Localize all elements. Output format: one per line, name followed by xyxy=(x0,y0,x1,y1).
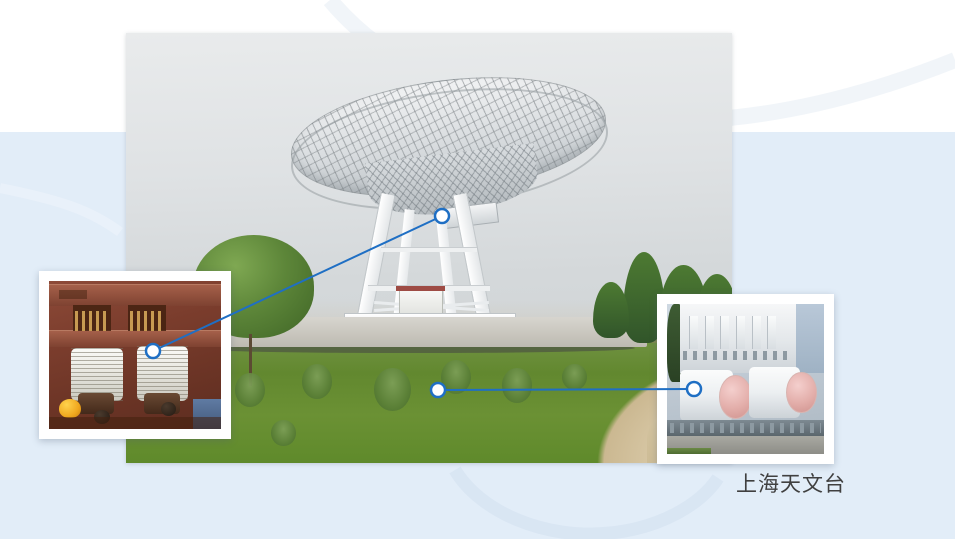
pink-end-cap-right xyxy=(786,372,816,413)
gear-pin-row-right xyxy=(130,311,164,332)
base-bolt-row xyxy=(670,423,821,434)
housing-bolt-row xyxy=(683,351,793,360)
rusty-slot-upper xyxy=(59,290,87,299)
housing-fin-3 xyxy=(720,316,729,349)
rusty-foreground-shadow xyxy=(49,417,221,429)
housing-fin-5 xyxy=(752,316,761,349)
grass-strip xyxy=(667,448,711,454)
housing-fin-1 xyxy=(689,316,698,349)
shrub-7 xyxy=(562,364,586,390)
shrub-6 xyxy=(502,368,532,402)
housing-fin-4 xyxy=(736,316,745,349)
shrub-9 xyxy=(271,420,295,446)
housing-fin-6 xyxy=(767,316,776,349)
housing-fin-2 xyxy=(705,316,714,349)
drive-motor-closeup-rusty[interactable] xyxy=(39,271,231,439)
pink-end-cap-left xyxy=(719,375,752,419)
photo-caption: 上海天文台 xyxy=(736,468,846,498)
gear-pin-row-left xyxy=(75,311,109,332)
drive-motor-closeup-white[interactable] xyxy=(657,294,834,464)
inset-left-image xyxy=(49,281,221,429)
shrub-4 xyxy=(374,368,410,411)
mount-brace-2 xyxy=(381,247,478,253)
shrub-3 xyxy=(302,364,332,398)
rusty-beam-mid xyxy=(49,330,221,347)
inset-right-image xyxy=(667,304,824,454)
slide-root: 上海天文台 xyxy=(0,0,955,539)
hard-hat-orange xyxy=(59,399,81,418)
